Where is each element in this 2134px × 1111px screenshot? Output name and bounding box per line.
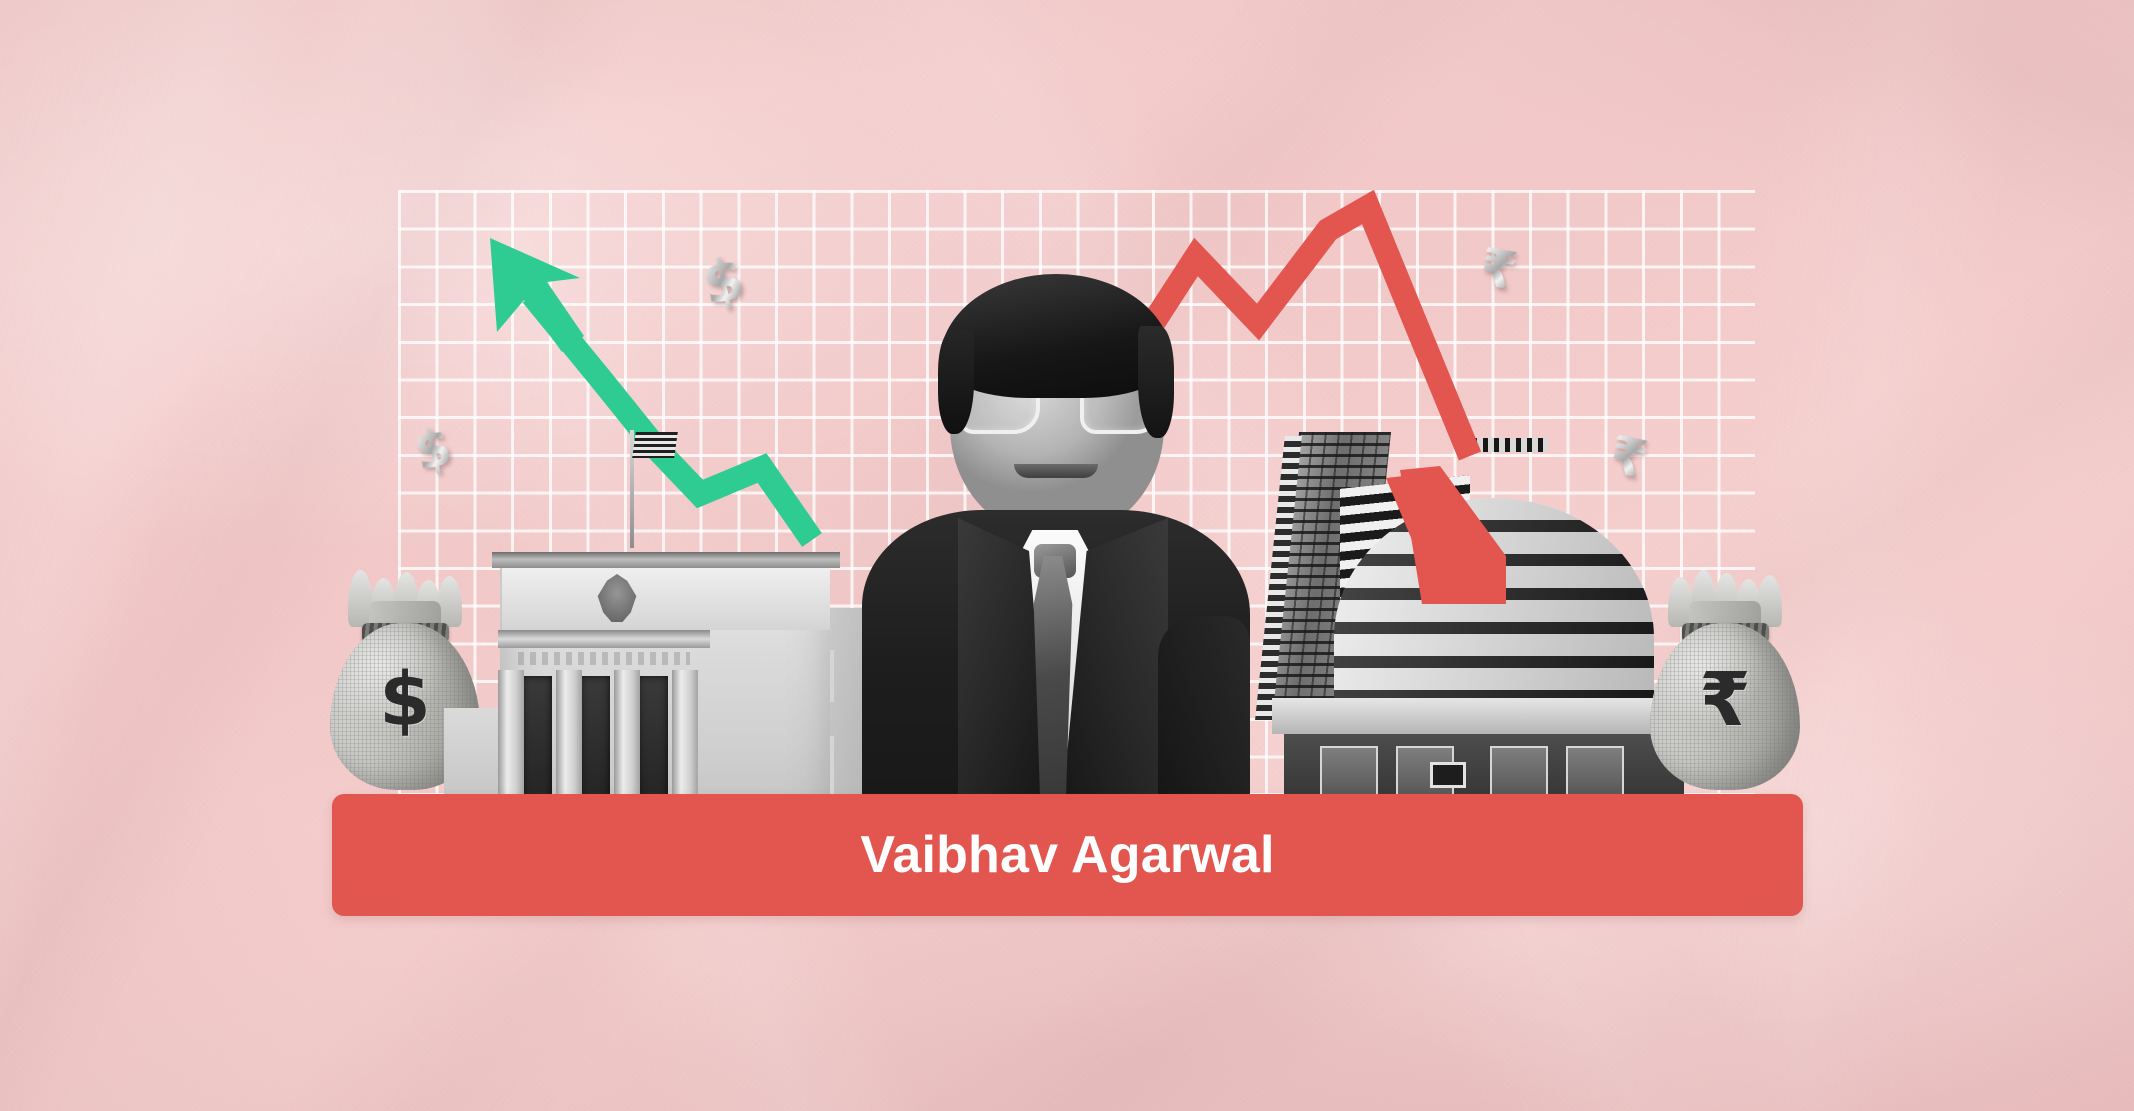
portrait-hair-right — [1138, 326, 1174, 438]
portrait-smile — [1014, 464, 1098, 478]
name-banner: Vaibhav Agarwal — [332, 794, 1803, 916]
portrait-hair-left — [938, 330, 974, 434]
us-flag-icon — [632, 432, 678, 458]
speaker-name: Vaibhav Agarwal — [860, 825, 1274, 885]
image-canvas: $ — [0, 0, 2134, 1111]
portrait-vaibhav-agarwal — [862, 268, 1250, 878]
rising-green-arrow — [490, 238, 812, 540]
